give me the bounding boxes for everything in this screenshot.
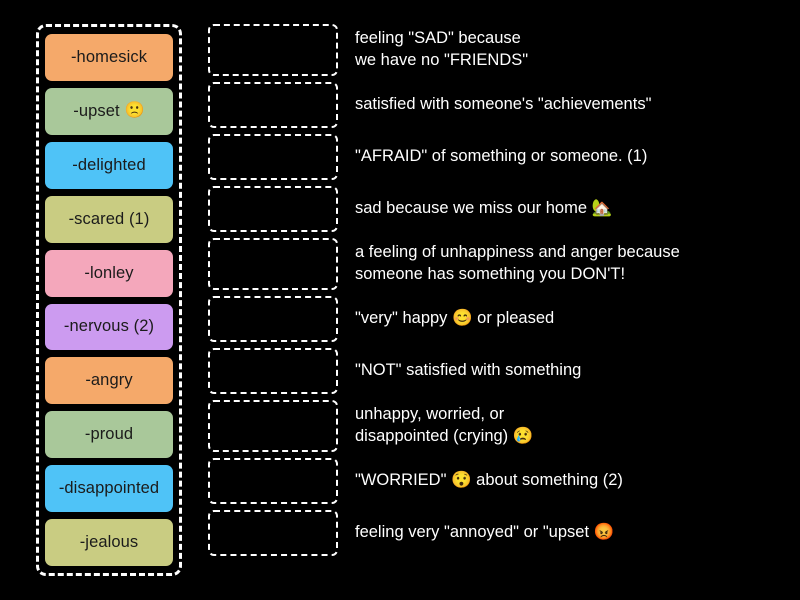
word-tile-label: -delighted [72, 156, 145, 175]
word-tile[interactable]: -homesick [45, 34, 173, 81]
word-bank-container: -homesick-upset🙁-delighted-scared (1)-lo… [36, 24, 182, 576]
word-tile-label: -proud [85, 425, 133, 444]
definition-text: feeling very "annoyed" or "upset 😡 [355, 522, 614, 544]
word-tile[interactable]: -upset🙁 [45, 88, 173, 135]
answer-row: feeling very "annoyed" or "upset 😡 [208, 510, 778, 556]
answer-row: "WORRIED" 😯 about something (2) [208, 458, 778, 504]
word-tile[interactable]: -proud [45, 411, 173, 458]
word-tile[interactable]: -scared (1) [45, 196, 173, 243]
word-tile[interactable]: -delighted [45, 142, 173, 189]
answer-rows-container: feeling "SAD" because we have no "FRIEND… [208, 24, 778, 562]
definition-text: "very" happy 😊 or pleased [355, 308, 554, 330]
word-tile-label: -disappointed [59, 479, 159, 498]
answer-row: sad because we miss our home 🏡 [208, 186, 778, 232]
answer-row: "AFRAID" of something or someone. (1) [208, 134, 778, 180]
word-tile-label: -nervous (2) [64, 317, 154, 336]
definition-text: "WORRIED" 😯 about something (2) [355, 470, 623, 492]
activity-canvas: -homesick-upset🙁-delighted-scared (1)-lo… [0, 0, 800, 600]
answer-row: "very" happy 😊 or pleased [208, 296, 778, 342]
answer-row: satisfied with someone's "achievements" [208, 82, 778, 128]
answer-row: "NOT" satisfied with something [208, 348, 778, 394]
word-tile-label: -scared (1) [69, 210, 150, 229]
definition-text: "NOT" satisfied with something [355, 360, 581, 382]
drop-slot[interactable] [208, 348, 338, 394]
word-tile[interactable]: -jealous [45, 519, 173, 566]
definition-text: unhappy, worried, or disappointed (cryin… [355, 404, 533, 448]
drop-slot[interactable] [208, 238, 338, 290]
definition-text: sad because we miss our home 🏡 [355, 198, 612, 220]
definition-text: a feeling of unhappiness and anger becau… [355, 242, 680, 286]
drop-slot[interactable] [208, 510, 338, 556]
definition-text: "AFRAID" of something or someone. (1) [355, 146, 647, 168]
word-tile-label: -jealous [80, 533, 139, 552]
word-tile-label: -lonley [84, 264, 133, 283]
drop-slot[interactable] [208, 400, 338, 452]
definition-text: feeling "SAD" because we have no "FRIEND… [355, 28, 528, 72]
word-tile-label: -upset [73, 102, 119, 121]
frowning-face-icon: 🙁 [125, 103, 145, 119]
drop-slot[interactable] [208, 82, 338, 128]
answer-row: unhappy, worried, or disappointed (cryin… [208, 400, 778, 452]
word-tile[interactable]: -angry [45, 357, 173, 404]
answer-row: feeling "SAD" because we have no "FRIEND… [208, 24, 778, 76]
word-tile[interactable]: -lonley [45, 250, 173, 297]
drop-slot[interactable] [208, 296, 338, 342]
word-tile-label: -angry [85, 371, 132, 390]
definition-text: satisfied with someone's "achievements" [355, 94, 651, 116]
drop-slot[interactable] [208, 186, 338, 232]
drop-slot[interactable] [208, 458, 338, 504]
word-tile[interactable]: -nervous (2) [45, 304, 173, 351]
drop-slot[interactable] [208, 134, 338, 180]
drop-slot[interactable] [208, 24, 338, 76]
word-tile[interactable]: -disappointed [45, 465, 173, 512]
word-tile-label: -homesick [71, 48, 147, 67]
answer-row: a feeling of unhappiness and anger becau… [208, 238, 778, 290]
